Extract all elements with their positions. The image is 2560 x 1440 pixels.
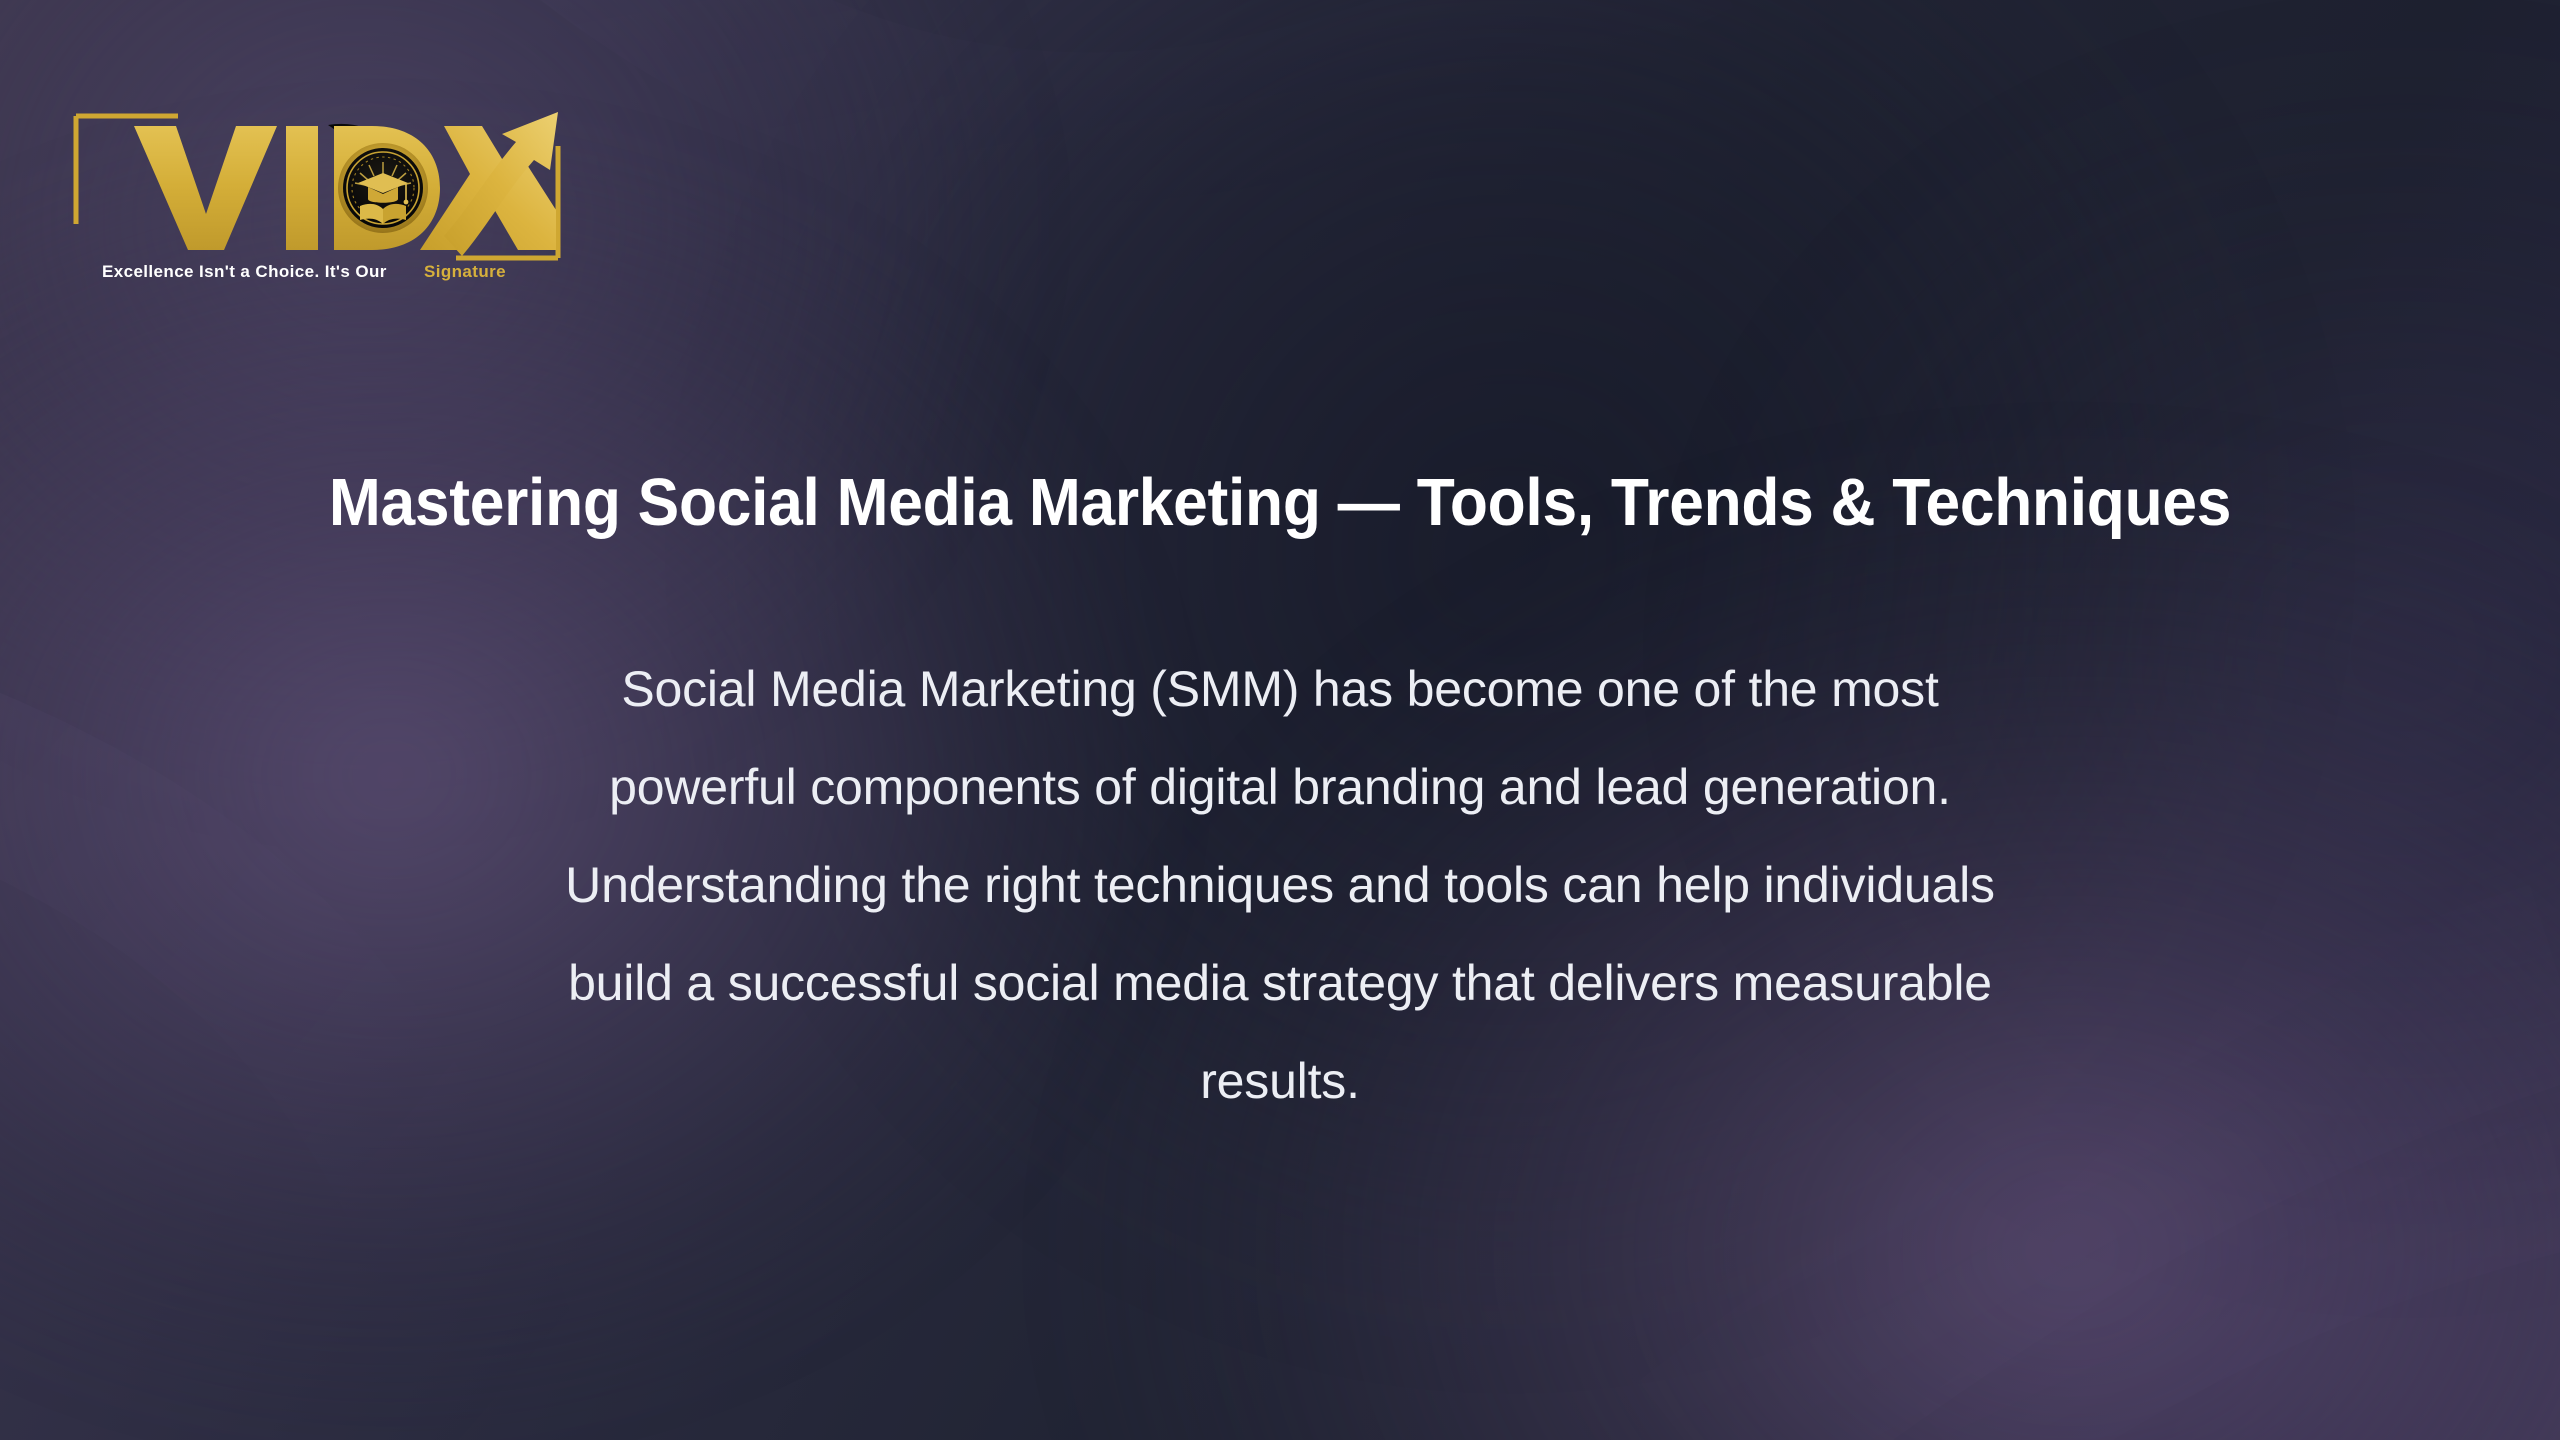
body-line: results. — [275, 1032, 2285, 1130]
slide-headline: Mastering Social Media Marketing — Tools… — [90, 465, 2471, 540]
slide-body-paragraph: Social Media Marketing (SMM) has become … — [275, 640, 2285, 1130]
logo-tagline-primary: Excellence Isn't a Choice. It's Our — [102, 262, 387, 281]
body-line: powerful components of digital branding … — [275, 738, 2285, 836]
logo-emblem-icon — [338, 143, 428, 233]
body-line: Social Media Marketing (SMM) has become … — [275, 640, 2285, 738]
logo-letter-i — [286, 126, 318, 250]
brand-logo[interactable]: Excellence Isn't a Choice. It's Our Sign… — [72, 88, 612, 288]
logo-tagline-accent: Signature — [424, 262, 506, 281]
logo-artwork: Excellence Isn't a Choice. It's Our Sign… — [72, 88, 612, 288]
presentation-slide: Excellence Isn't a Choice. It's Our Sign… — [0, 0, 2560, 1440]
body-line: build a successful social media strategy… — [275, 934, 2285, 1032]
body-line: Understanding the right techniques and t… — [275, 836, 2285, 934]
logo-letter-v — [134, 126, 277, 250]
